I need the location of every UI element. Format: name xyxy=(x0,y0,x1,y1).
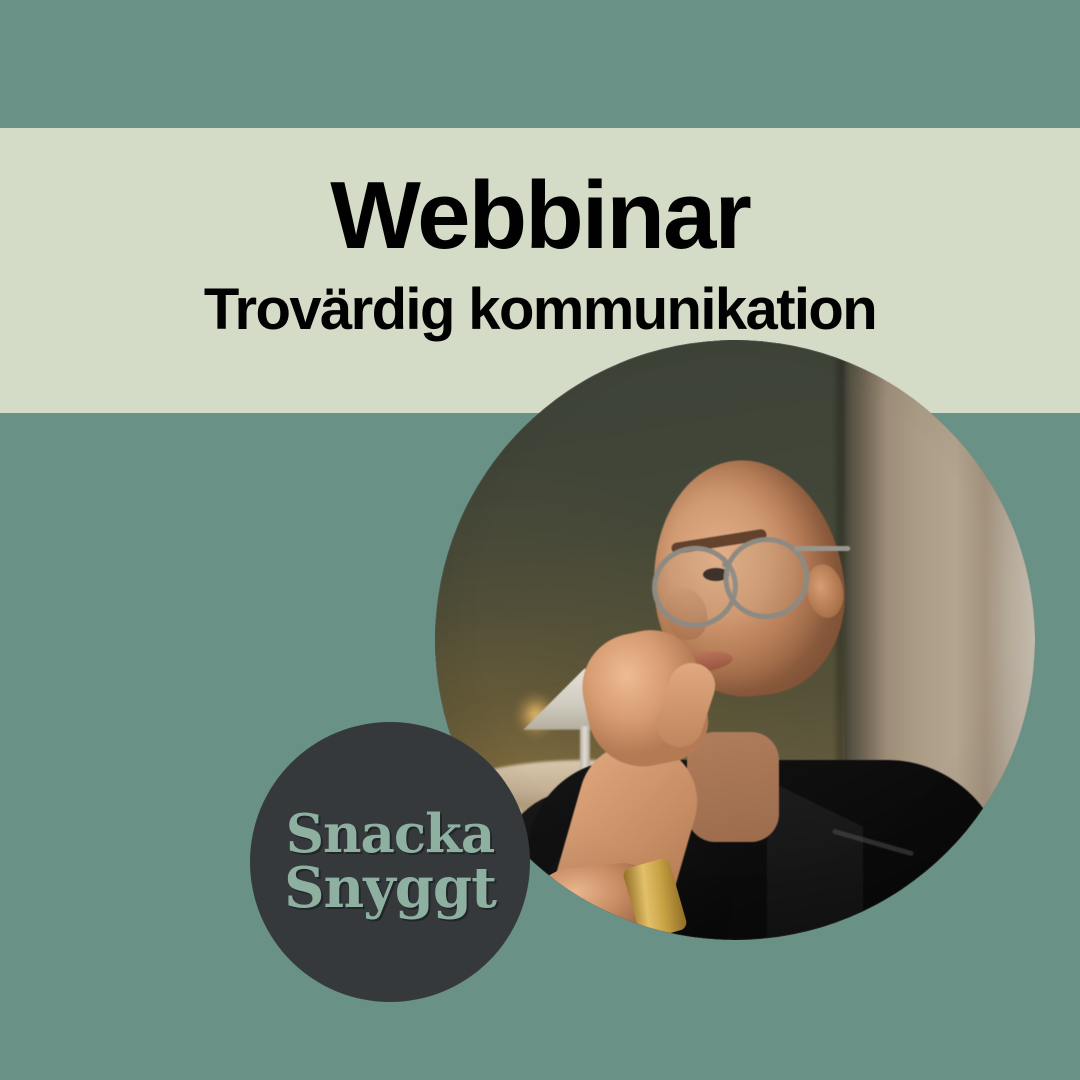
page-subtitle: Trovärdig kommunikation xyxy=(0,281,1080,339)
glasses-temple xyxy=(794,546,850,551)
glasses-bridge xyxy=(722,561,731,567)
brand-logo-badge: Snacka Snyggt xyxy=(250,722,530,1002)
neck xyxy=(687,732,779,842)
webinar-poster: Webbinar Trovärdig kommunikation xyxy=(0,0,1080,1080)
brand-logo-line-1: Snacka xyxy=(286,809,494,860)
page-title: Webbinar xyxy=(0,168,1080,264)
brand-logo-line-2: Snyggt xyxy=(284,862,496,916)
